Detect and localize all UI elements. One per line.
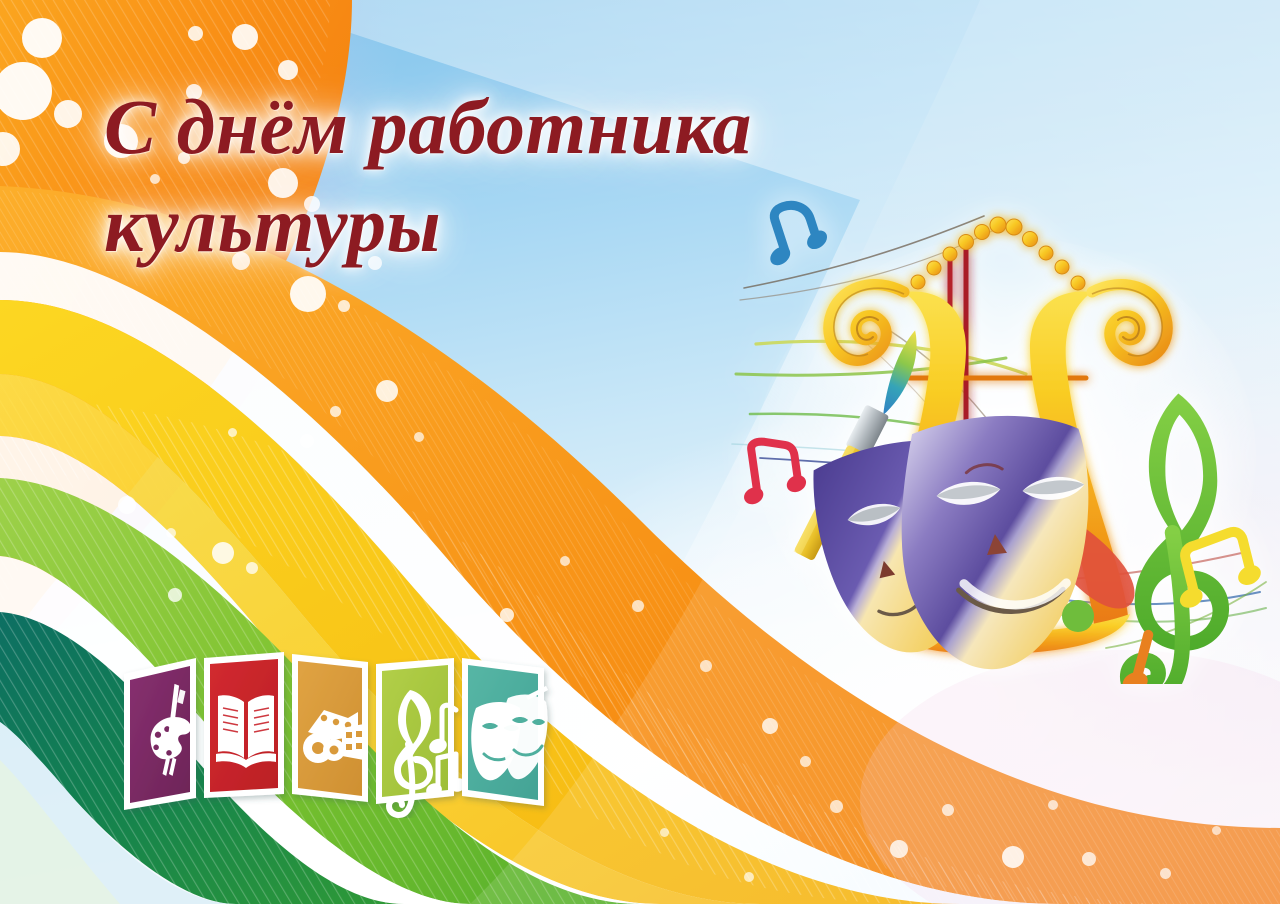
white-bokeh-dot <box>168 588 182 602</box>
tile-cinema[interactable] <box>292 654 368 802</box>
white-bokeh-dot <box>0 132 20 166</box>
tile-fine-arts[interactable] <box>124 658 196 810</box>
white-bokeh-dot <box>188 26 203 41</box>
title-line-1: С днём работника <box>104 78 894 176</box>
white-bokeh-dot <box>632 600 644 612</box>
white-bokeh-dot <box>212 542 234 564</box>
white-bokeh-dot <box>246 562 258 574</box>
white-bokeh-dot <box>700 660 712 672</box>
white-bokeh-dot <box>118 496 136 514</box>
white-bokeh-dot <box>338 300 350 312</box>
white-bokeh-dot <box>330 406 341 417</box>
white-bokeh-dot <box>744 872 754 882</box>
white-bokeh-dot <box>1048 800 1058 810</box>
white-bokeh-dot <box>830 800 843 813</box>
white-bokeh-dot <box>800 756 811 767</box>
white-bokeh-dot <box>54 100 82 128</box>
tile-music[interactable] <box>376 658 468 815</box>
white-bokeh-dot <box>166 528 176 538</box>
title-line-2: культуры <box>104 176 894 274</box>
white-bokeh-dot <box>300 434 314 448</box>
white-bokeh-dot <box>1002 846 1024 868</box>
white-bokeh-dot <box>1082 852 1096 866</box>
white-bokeh-dot <box>414 432 424 442</box>
white-bokeh-dot <box>890 840 908 858</box>
white-bokeh-dot <box>762 718 778 734</box>
white-bokeh-dot <box>232 24 258 50</box>
white-bokeh-dot <box>278 60 298 80</box>
culture-tile-strip <box>118 646 678 818</box>
greeting-card: С днём работника культуры <box>0 0 1280 904</box>
white-bokeh-dot <box>1160 868 1171 879</box>
white-bokeh-dot <box>0 62 52 120</box>
tile-literature[interactable] <box>204 652 284 798</box>
tile-theatre[interactable] <box>462 658 548 806</box>
page-title: С днём работника культуры <box>104 78 894 274</box>
white-bokeh-dot <box>660 828 669 837</box>
white-bokeh-dot <box>942 804 954 816</box>
white-bokeh-dot <box>22 18 62 58</box>
white-bokeh-dot <box>1212 826 1221 835</box>
white-bokeh-dot <box>290 276 326 312</box>
white-bokeh-dot <box>228 428 237 437</box>
white-bokeh-dot <box>500 608 514 622</box>
white-bokeh-dot <box>376 380 398 402</box>
white-bokeh-dot <box>560 556 570 566</box>
